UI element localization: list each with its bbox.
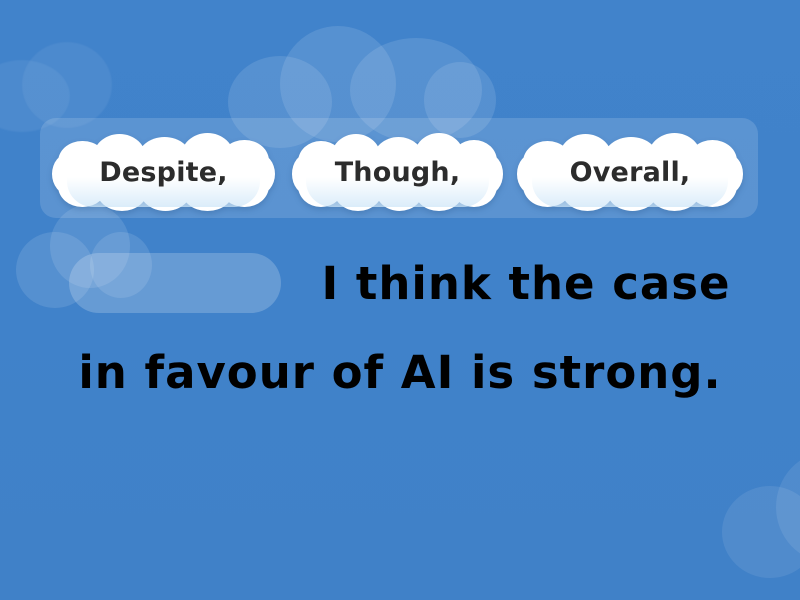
word-tile-label: Though, [294,133,501,213]
cloud-bottom-right-icon [722,452,800,582]
word-tile-despite[interactable]: Despite, [54,133,273,213]
sentence-line-1: I think the case [0,240,800,326]
word-tile-overall[interactable]: Overall, [519,133,741,213]
word-tile-though[interactable]: Though, [294,133,501,213]
word-tile-label: Overall, [519,133,741,213]
sentence-text-part-1: I think the case [321,257,730,310]
cloud-upper-left-icon [0,40,124,130]
blank-drop-slot[interactable] [69,253,281,313]
cloud-top-center-icon [228,22,478,122]
game-stage: Despite, Though, Overall, I thin [0,0,800,600]
sentence-line-2: in favour of AI is strong. [0,336,800,408]
sentence-text-part-2: in favour of AI is strong. [78,346,721,399]
word-tile-label: Despite, [54,133,273,213]
